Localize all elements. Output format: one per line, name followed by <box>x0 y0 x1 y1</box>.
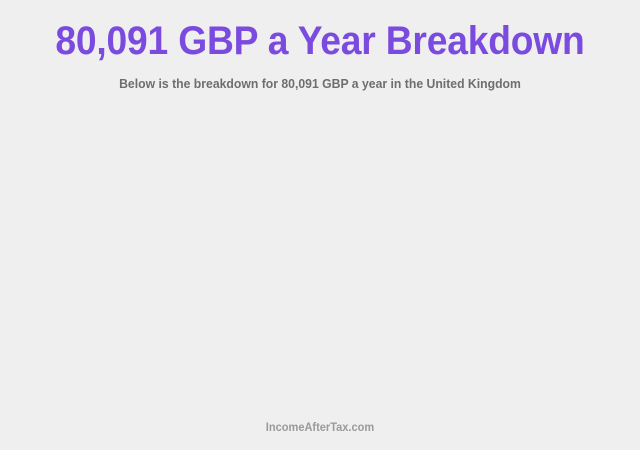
page-title: 80,091 GBP a Year Breakdown <box>22 18 617 64</box>
page-subtitle: Below is the breakdown for 80,091 GBP a … <box>19 64 621 92</box>
page-footer: IncomeAfterTax.com <box>0 420 640 450</box>
site-watermark: IncomeAfterTax.com <box>26 420 615 434</box>
page-header: 80,091 GBP a Year Breakdown Below is the… <box>0 0 640 92</box>
breakdown-chart-region <box>0 92 640 420</box>
income-breakdown-page: 80,091 GBP a Year Breakdown Below is the… <box>0 0 640 450</box>
chart-canvas <box>0 92 640 420</box>
